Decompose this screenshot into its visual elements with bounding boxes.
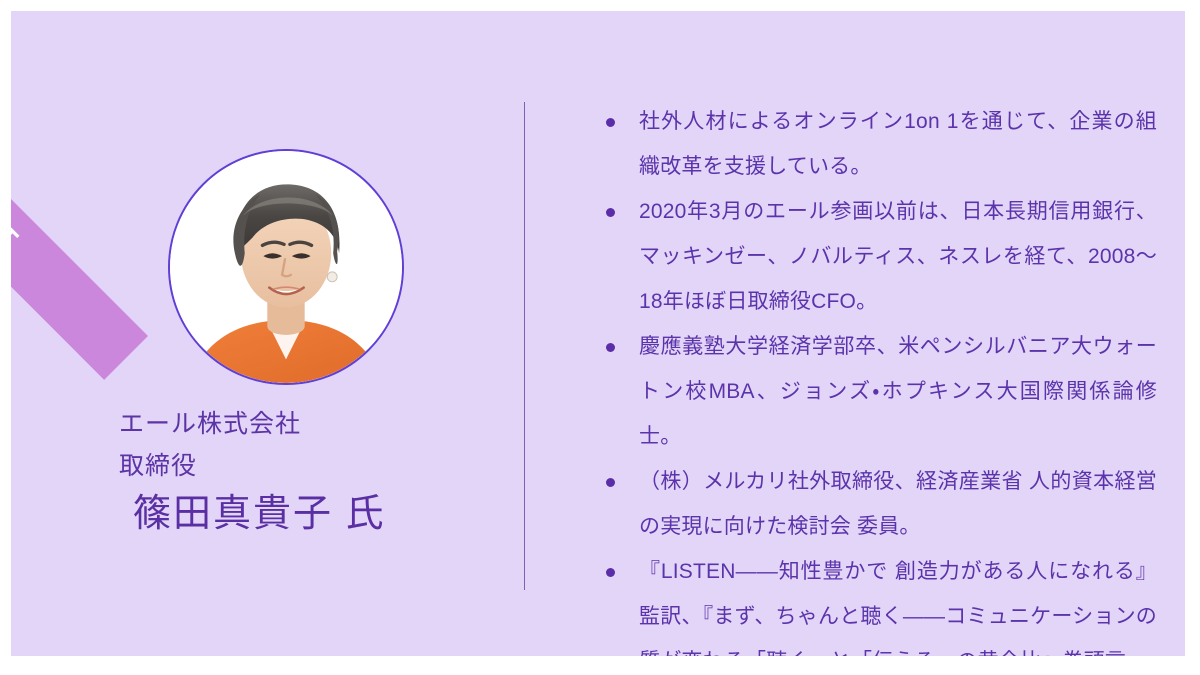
slide-panel: GUEST (11, 11, 1185, 656)
column-divider (524, 102, 525, 590)
bio-list-item: 社外人材によるオンライン1on 1を通じて、企業の組織改革を支援している。 (597, 99, 1157, 189)
profile-column: エール株式会社 取締役 篠田真貴子 氏 (23, 131, 513, 591)
slide-canvas: GUEST (0, 0, 1200, 675)
person-name: 篠田真貴子 氏 (119, 487, 513, 541)
bio-list-item: （株）メルカリ社外取締役、経済産業省 人的資本経営の実現に向けた検討会 委員。 (597, 459, 1157, 549)
job-title: 取締役 (119, 445, 513, 487)
avatar (168, 149, 404, 385)
identity-block: エール株式会社 取締役 篠田真貴子 氏 (23, 403, 513, 541)
organization-name: エール株式会社 (119, 403, 513, 445)
bio-list-item: 2020年3月のエール参画以前は、日本長期信用銀行、マッキンゼー、ノバルティス、… (597, 189, 1157, 324)
bio-list: 社外人材によるオンライン1on 1を通じて、企業の組織改革を支援している。 20… (597, 99, 1157, 656)
bio-list-item: 『LISTEN――知性豊かで 創造力がある人になれる』監訳、『まず、ちゃんと聴く… (597, 549, 1157, 656)
bio-list-item: 慶應義塾大学経済学部卒、米ペンシルバニア大ウォートン校MBA、ジョンズ・ホプキン… (597, 324, 1157, 459)
